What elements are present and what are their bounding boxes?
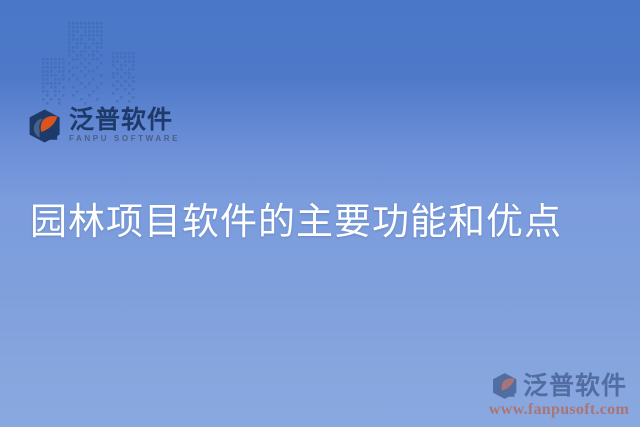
skyline-icon <box>42 22 142 108</box>
dotted-skyline-pattern <box>42 22 142 108</box>
brand-name-en: FANPU SOFTWARE <box>69 134 180 144</box>
page-title: 园林项目软件的主要功能和优点 <box>30 200 562 244</box>
brand-logo: 泛普软件 FANPU SOFTWARE <box>27 107 180 144</box>
watermark-logo: 泛普软件 <box>486 372 632 400</box>
fanpu-logo-mark-icon <box>27 108 63 144</box>
brand-wordmark: 泛普软件 FANPU SOFTWARE <box>69 107 180 144</box>
brand-name-cn: 泛普软件 <box>69 107 180 132</box>
banner-image: 泛普软件 FANPU SOFTWARE 园林项目软件的主要功能和优点 泛普软件 … <box>0 0 640 427</box>
fanpu-logo-mark-icon <box>491 372 519 400</box>
watermark: 泛普软件 www.fanpusoft.com <box>486 372 632 419</box>
watermark-url: www.fanpusoft.com <box>486 401 632 419</box>
watermark-name-cn: 泛普软件 <box>523 372 627 400</box>
